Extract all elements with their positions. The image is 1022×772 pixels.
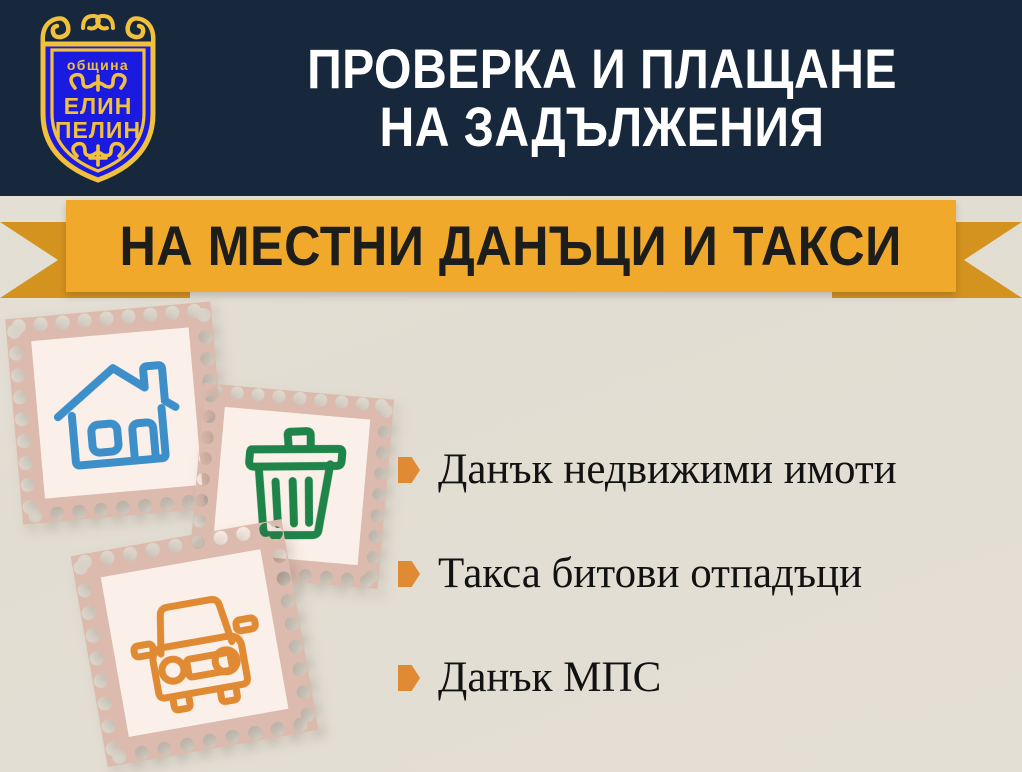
ribbon-label: НА МЕСТНИ ДАНЪЦИ И ТАКСИ (120, 218, 902, 274)
tax-type-list: Данък недвижими имоти Такса битови отпад… (398, 418, 1010, 730)
page-title: ПРОВЕРКА И ПЛАЩАНЕ НА ЗАДЪЛЖЕНИЯ (196, 40, 1022, 156)
municipality-crest: община ЕЛИН ПЕЛИН (0, 0, 196, 196)
crest-label-line2: ПЕЛИН (55, 117, 141, 143)
ribbon-banner: НА МЕСТНИ ДАНЪЦИ И ТАКСИ (66, 200, 956, 292)
stamp-collage (0, 296, 420, 772)
crest-label-small: община (67, 57, 129, 73)
arrow-bullet-icon (398, 665, 420, 691)
stamp-car (71, 519, 320, 772)
list-item[interactable]: Данък МПС (398, 626, 1010, 730)
list-item-label: Данък МПС (438, 654, 661, 701)
arrow-bullet-icon (398, 561, 420, 587)
header-band: община ЕЛИН ПЕЛИН (0, 0, 1022, 196)
page-title-line-2: НА ЗАДЪЛЖЕНИЯ (256, 98, 947, 156)
poster-canvas: община ЕЛИН ПЕЛИН (0, 0, 1022, 772)
crest-label-line1: ЕЛИН (64, 93, 133, 119)
arrow-bullet-icon (398, 457, 420, 483)
list-item-label: Данък недвижими имоти (438, 446, 897, 493)
page-title-line-1: ПРОВЕРКА И ПЛАЩАНЕ (256, 40, 947, 98)
list-item-label: Такса битови отпадъци (438, 550, 862, 597)
list-item[interactable]: Такса битови отпадъци (398, 522, 1010, 626)
list-item[interactable]: Данък недвижими имоти (398, 418, 1010, 522)
subtitle-ribbon: НА МЕСТНИ ДАНЪЦИ И ТАКСИ (0, 196, 1022, 306)
